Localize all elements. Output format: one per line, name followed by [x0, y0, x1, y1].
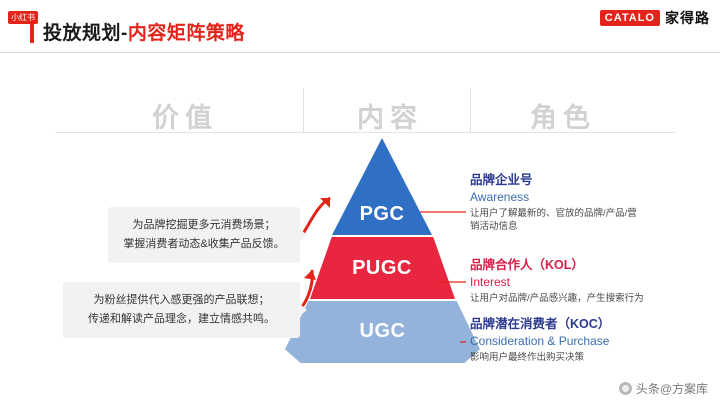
callout-ugc-value: 为粉丝提供代入感更强的产品联想； 传递和解读产品理念，建立情感共鸣。 — [63, 282, 300, 338]
page-title: 投放规划- 内容矩阵策略 — [30, 18, 245, 45]
header-divider — [0, 52, 720, 53]
role-body-kol-line1: 让用户对品牌/产品感兴趣，产生搜索行为 — [470, 292, 698, 305]
role-heading-brand-account: 品牌企业号 — [470, 172, 698, 189]
footer-watermark-text: 头条@方案库 — [636, 380, 708, 397]
columns-bottom-divider — [55, 132, 675, 133]
title-main-text: 投放规划- — [43, 18, 128, 45]
column-divider-1 — [303, 88, 304, 132]
role-block-kol: 品牌合作人（KOL） Interest 让用户对品牌/产品感兴趣，产生搜索行为 — [470, 257, 698, 305]
role-english-brand-account: Awareness — [470, 189, 698, 205]
role-body-brand-account-line1: 让用户了解最新的、官放的品牌/产品/营 — [470, 207, 698, 220]
footer-watermark: 头条@方案库 — [619, 380, 708, 397]
role-body-brand-account-line2: 销活动信息 — [470, 220, 698, 233]
callout-pgc-line1: 为品牌挖掘更多元消费场景； — [119, 216, 289, 235]
callout-pgc-tail — [300, 229, 307, 241]
page-header: 小红书 CATALO 家得路 投放规划- 内容矩阵策略 — [0, 0, 720, 52]
callout-ugc-tail — [300, 304, 307, 316]
catalo-latin-label: CATALO — [600, 10, 660, 26]
pyramid-layer-pugc-label: PUGC — [307, 257, 457, 280]
role-english-koc: Consideration & Purchase — [470, 333, 698, 349]
pyramid-layer-pgc-label: PGC — [332, 203, 432, 226]
content-pyramid: PGC PUGC UGC — [285, 138, 480, 373]
column-heading-role: 角色 — [530, 96, 596, 135]
callout-pgc-value: 为品牌挖掘更多元消费场景； 掌握消费者动态&收集产品反馈。 — [108, 207, 300, 263]
role-body-koc-line1: 影响用户最终作出购买决策 — [470, 351, 698, 364]
pyramid-layer-ugc-label: UGC — [285, 320, 480, 343]
title-sub-text: 内容矩阵策略 — [128, 18, 245, 45]
role-heading-kol: 品牌合作人（KOL） — [470, 257, 698, 274]
role-english-kol: Interest — [470, 274, 698, 290]
role-block-brand-account: 品牌企业号 Awareness 让用户了解最新的、官放的品牌/产品/营 销活动信… — [470, 172, 698, 233]
column-heading-value: 价值 — [152, 96, 218, 135]
callout-pgc-line2: 掌握消费者动态&收集产品反馈。 — [119, 235, 289, 254]
role-block-koc: 品牌潜在消费者（KOC） Consideration & Purchase 影响… — [470, 316, 698, 364]
callout-ugc-line2: 传递和解读产品理念，建立情感共鸣。 — [74, 310, 289, 329]
catalo-brand: CATALO 家得路 — [600, 8, 710, 28]
callout-ugc-line1: 为粉丝提供代入感更强的产品联想； — [74, 291, 289, 310]
column-heading-content: 内容 — [357, 96, 423, 135]
role-heading-koc: 品牌潜在消费者（KOC） — [470, 316, 698, 333]
toutiao-icon — [619, 382, 632, 395]
catalo-chinese-label: 家得路 — [665, 8, 710, 28]
title-accent-bar — [30, 21, 34, 43]
column-divider-2 — [470, 88, 471, 132]
